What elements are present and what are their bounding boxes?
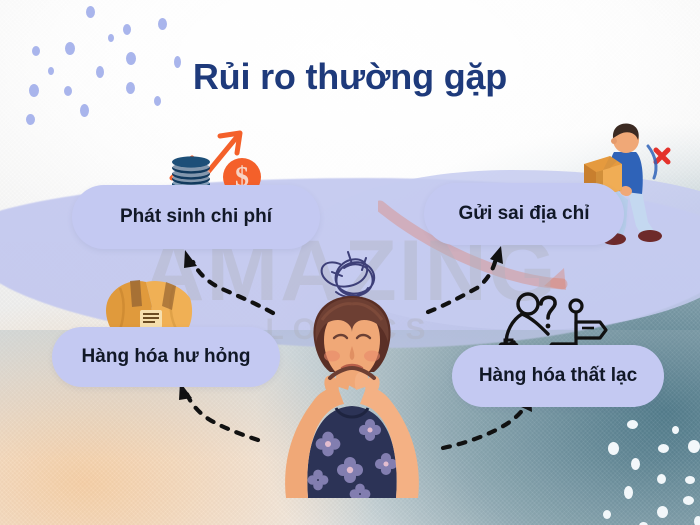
- wrong-mark-icon: [656, 150, 668, 162]
- gripping-hands-icon: [324, 372, 357, 394]
- question-mark-icon: [541, 297, 555, 328]
- risk-label-cost: Phát sinh chi phí: [120, 206, 272, 228]
- risk-pill-damage[interactable]: Hàng hóa hư hỏng: [52, 327, 280, 387]
- risk-pill-cost[interactable]: Phát sinh chi phí: [72, 185, 320, 249]
- risk-pill-lost[interactable]: Hàng hóa thất lạc: [452, 345, 664, 407]
- illustration-stressed-person: [252, 248, 452, 498]
- risk-pill-address[interactable]: Gửi sai địa chỉ: [424, 183, 624, 245]
- risk-label-lost: Hàng hóa thất lạc: [479, 365, 637, 387]
- risk-label-damage: Hàng hóa hư hỏng: [82, 346, 251, 368]
- tangled-scribble-icon: [322, 252, 375, 297]
- page-title: Rủi ro thường gặp: [0, 56, 700, 98]
- infographic-canvas: AMAZING LOGICS Rủ: [0, 0, 700, 525]
- risk-label-address: Gửi sai địa chỉ: [459, 203, 590, 225]
